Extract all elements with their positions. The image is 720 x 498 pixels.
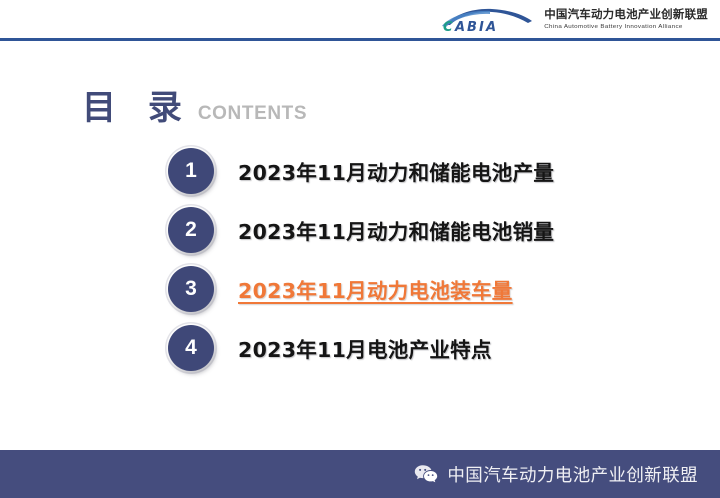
page-title: 目 录 CONTENTS — [82, 80, 307, 129]
alliance-name-cn: 中国汽车动力电池产业创新联盟 — [544, 10, 708, 22]
contents-item-label-active[interactable]: 2023年11月动力电池装车量 — [238, 274, 513, 304]
item-number-badge: 3 — [168, 266, 214, 312]
contents-item-label[interactable]: 2023年11月电池产业特点 — [238, 333, 492, 363]
svg-text:I: I — [479, 20, 484, 34]
svg-text:A: A — [454, 20, 465, 34]
footer-text: 中国汽车动力电池产业创新联盟 — [447, 462, 698, 487]
brand-lockup: C A B I A 中国汽车动力电池产业创新联盟 China Automotiv… — [440, 6, 708, 34]
svg-text:A: A — [485, 20, 496, 34]
footer-brand: 中国汽车动力电池产业创新联盟 — [414, 462, 698, 487]
item-number-badge: 1 — [168, 148, 214, 194]
alliance-name-en: China Automotive Battery Innovation Alli… — [544, 24, 708, 30]
page-title-en: CONTENTS — [198, 103, 307, 125]
svg-text:C: C — [443, 20, 453, 34]
cabia-logo-icon: C A B I A — [440, 6, 536, 34]
slide-header: C A B I A 中国汽车动力电池产业创新联盟 China Automotiv… — [0, 0, 720, 40]
slide-canvas: C A B I A 中国汽车动力电池产业创新联盟 China Automotiv… — [0, 0, 720, 498]
item-number-badge: 4 — [168, 325, 214, 371]
contents-list: 1 2023年11月动力和储能电池产量 2 2023年11月动力和储能电池销量 … — [168, 141, 638, 377]
contents-item-label[interactable]: 2023年11月动力和储能电池销量 — [238, 215, 554, 245]
page-title-cn: 目 录 — [82, 80, 192, 129]
contents-item-2[interactable]: 2 2023年11月动力和储能电池销量 — [168, 200, 638, 259]
item-number-badge: 2 — [168, 207, 214, 253]
contents-item-4[interactable]: 4 2023年11月电池产业特点 — [168, 318, 638, 377]
wechat-icon — [414, 464, 438, 485]
header-divider — [0, 38, 720, 41]
contents-item-3[interactable]: 3 2023年11月动力电池装车量 — [168, 259, 638, 318]
contents-item-label[interactable]: 2023年11月动力和储能电池产量 — [238, 156, 554, 186]
svg-text:B: B — [467, 20, 477, 34]
slide-footer: 中国汽车动力电池产业创新联盟 — [0, 450, 720, 498]
contents-item-1[interactable]: 1 2023年11月动力和储能电池产量 — [168, 141, 638, 200]
alliance-name-block: 中国汽车动力电池产业创新联盟 China Automotive Battery … — [544, 10, 708, 31]
